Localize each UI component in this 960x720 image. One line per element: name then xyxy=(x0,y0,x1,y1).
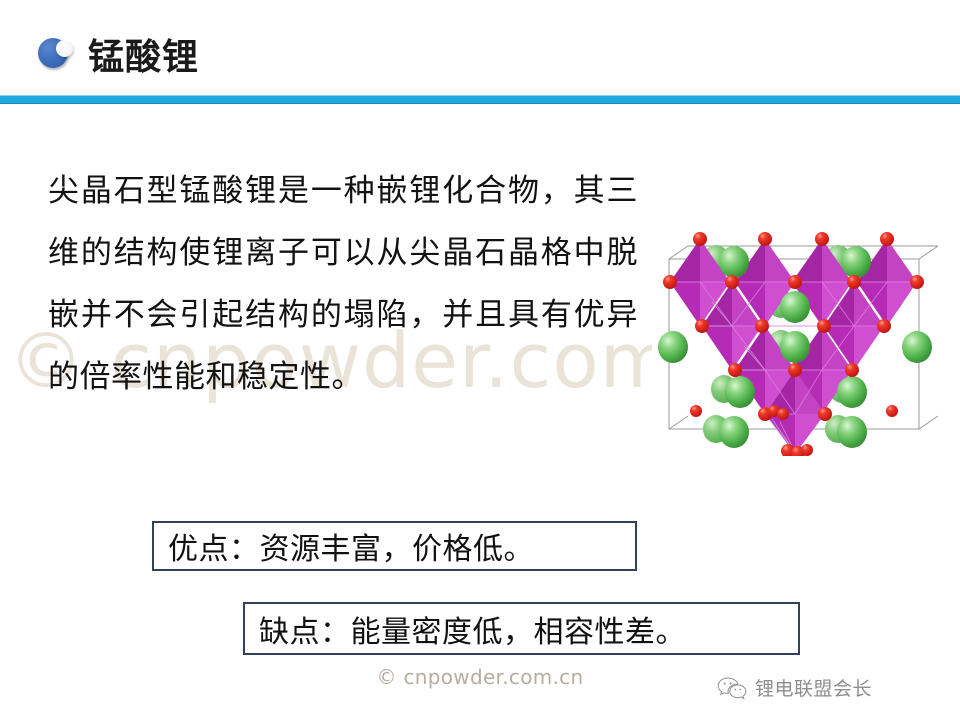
spinel-crystal-structure-image xyxy=(652,204,938,456)
footer-brand-label: 锂电联盟会长 xyxy=(755,674,872,701)
bullet-white-circle xyxy=(56,40,73,57)
footer-brand: 锂电联盟会长 xyxy=(716,674,872,701)
slide-canvas: 锰酸锂 © cnpowder.com 尖晶石型锰酸锂是一种嵌锂化合物，其三维的结… xyxy=(0,0,960,720)
callout-disadvantage: 缺点：能量密度低，相容性差。 xyxy=(243,602,800,655)
wechat-icon xyxy=(716,676,748,700)
header-divider-rule xyxy=(0,95,960,104)
callout-advantage-text: 优点：资源丰富，价格低。 xyxy=(168,524,534,568)
callout-disadvantage-text: 缺点：能量密度低，相容性差。 xyxy=(259,607,686,651)
callout-advantage: 优点：资源丰富，价格低。 xyxy=(152,521,637,571)
page-title: 锰酸锂 xyxy=(88,28,199,80)
slide-header: 锰酸锂 xyxy=(0,0,960,95)
body-paragraph: 尖晶石型锰酸锂是一种嵌锂化合物，其三维的结构使锂离子可以从尖晶石晶格中脱嵌并不会… xyxy=(48,160,638,408)
two-circle-bullet-icon xyxy=(38,38,80,68)
